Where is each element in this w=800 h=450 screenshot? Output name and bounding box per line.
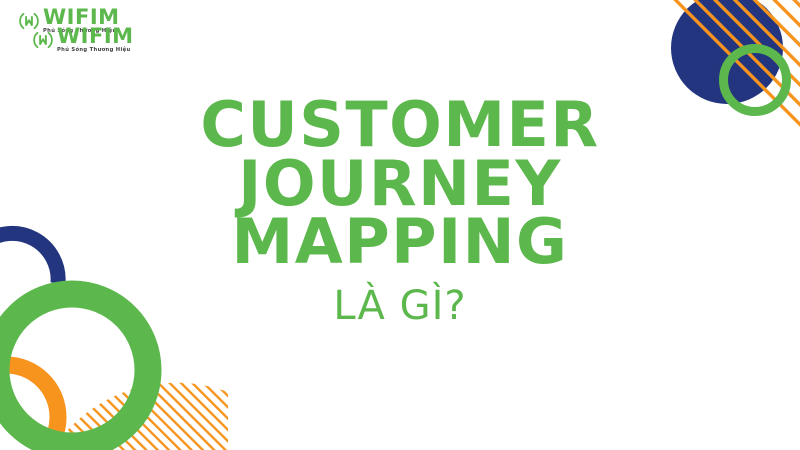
logo-wordmark-front: WIFIM xyxy=(57,27,134,47)
orange-arc xyxy=(6,365,58,445)
title-card: WIFIM Phủ Sóng Thương Hiệu WIFIM Phủ Són… xyxy=(0,0,800,450)
page-title: CUSTOMER JOURNEY MAPPING LÀ GÌ? xyxy=(0,96,800,326)
wifi-signal-icon xyxy=(32,29,54,51)
title-line-1: CUSTOMER xyxy=(0,96,800,155)
navy-filled-circle xyxy=(671,0,783,104)
logo-instance-front: WIFIM Phủ Sóng Thương Hiệu xyxy=(32,27,134,54)
title-line-3: MAPPING xyxy=(0,213,800,272)
orange-striped-arc xyxy=(52,383,228,450)
brand-logo[interactable]: WIFIM Phủ Sóng Thương Hiệu WIFIM Phủ Són… xyxy=(18,8,168,60)
title-subtitle: LÀ GÌ? xyxy=(0,286,800,326)
logo-tagline-front: Phủ Sóng Thương Hiệu xyxy=(57,48,134,53)
